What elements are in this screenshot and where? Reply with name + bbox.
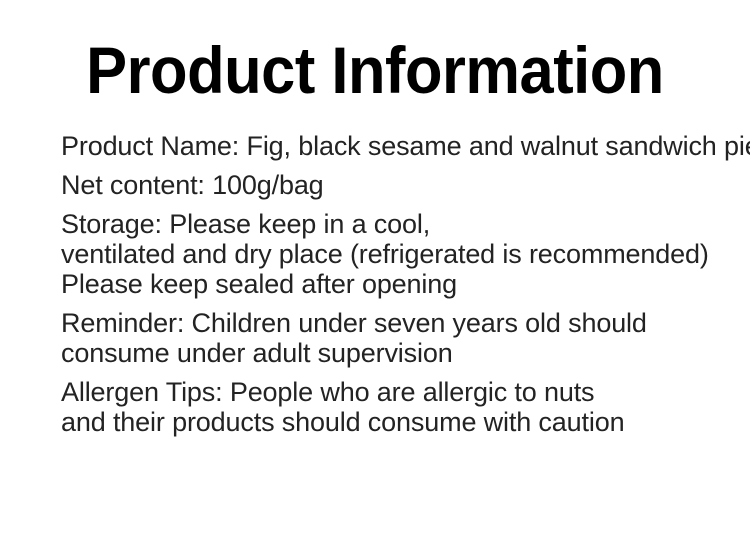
info-line: consume under adult supervision — [61, 338, 721, 368]
info-block-reminder: Reminder: Children under seven years old… — [61, 308, 721, 368]
info-block-allergen-tips: Allergen Tips: People who are allergic t… — [61, 377, 721, 437]
info-line: Net content: 100g/bag — [61, 170, 721, 200]
info-line: Reminder: Children under seven years old… — [61, 308, 721, 338]
info-line: Storage: Please keep in a cool, — [61, 209, 721, 239]
info-block-storage: Storage: Please keep in a cool, ventilat… — [61, 209, 721, 299]
info-block-product-name: Product Name: Fig, black sesame and waln… — [61, 131, 721, 161]
info-line: Product Name: Fig, black sesame and waln… — [61, 131, 721, 161]
info-line: ventilated and dry place (refrigerated i… — [61, 239, 721, 269]
info-line: Please keep sealed after opening — [61, 269, 721, 299]
info-line: and their products should consume with c… — [61, 407, 721, 437]
product-info-list: Product Name: Fig, black sesame and waln… — [61, 131, 721, 437]
product-information-label: Product Information Product Name: Fig, b… — [0, 0, 750, 538]
info-block-net-content: Net content: 100g/bag — [61, 170, 721, 200]
page-title: Product Information — [26, 32, 724, 108]
info-line: Allergen Tips: People who are allergic t… — [61, 377, 721, 407]
